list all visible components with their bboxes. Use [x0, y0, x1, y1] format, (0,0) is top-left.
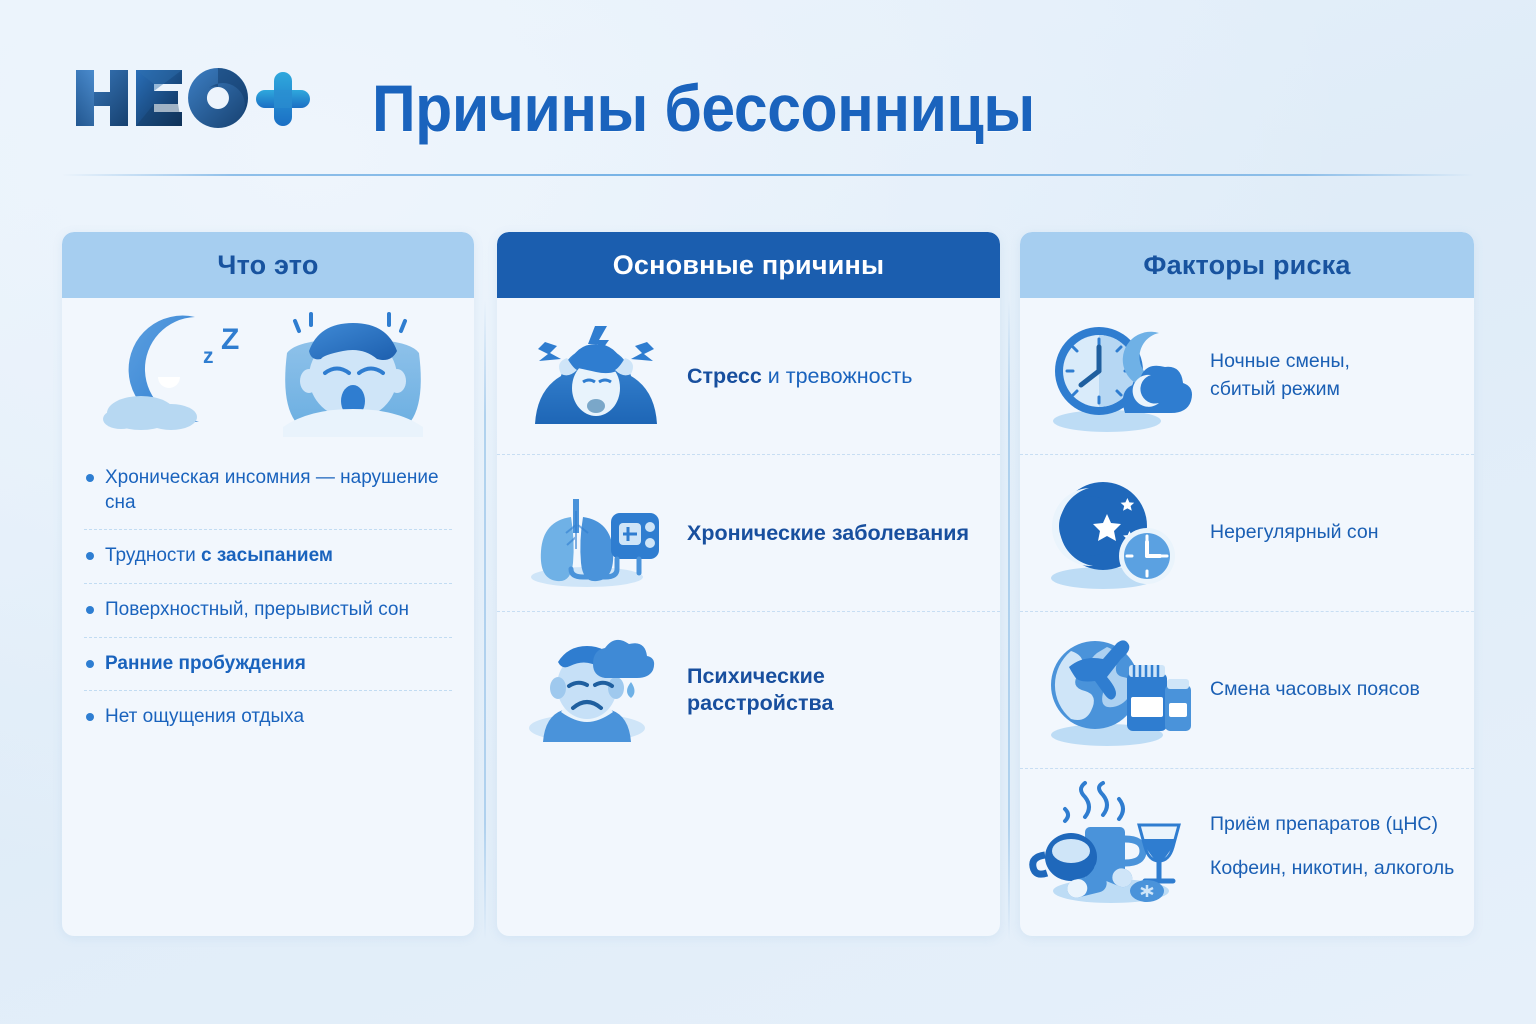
risk-row-night-shifts[interactable]: Ночные смены, сбитый режим — [1020, 298, 1474, 455]
svg-text:z: z — [203, 345, 214, 368]
list-item-label: Трудности с засыпанием — [105, 544, 333, 569]
sleeping-moon-icon: Z z — [103, 305, 263, 437]
cause-label: Психические расстройства — [687, 663, 976, 717]
lungs-blood-pressure-icon — [521, 477, 671, 589]
svg-text:Z: Z — [221, 323, 239, 356]
coffee-wine-pills-icon — [1036, 785, 1196, 909]
yawning-person-icon — [273, 305, 433, 437]
clock-night-moon-icon — [1036, 314, 1196, 438]
bullet-dot — [86, 713, 94, 721]
header-divider — [62, 174, 1474, 176]
neo-plus-logo — [70, 62, 310, 134]
risk-row-substances[interactable]: Приём препаратов (цНС) Кофеин, никотин, … — [1020, 769, 1474, 925]
card-main-causes: Основные причины — [497, 232, 1000, 936]
list-item[interactable]: Трудности с засыпанием — [84, 530, 452, 584]
page-header: Причины бессонницы — [0, 0, 1536, 176]
list-item[interactable]: Ранние пробуждения — [84, 638, 452, 692]
what-is-it-list: Хроническая инсомния — нарушение сна Тру… — [62, 444, 474, 744]
cause-row-chronic[interactable]: Хронические заболевания — [497, 455, 1000, 612]
risk-row-irregular-sleep[interactable]: Нерегулярный сон — [1020, 455, 1474, 612]
list-item[interactable]: Нет ощущения отдыха — [84, 691, 452, 744]
list-item-label: Нет ощущения отдыха — [105, 705, 304, 730]
sleep-illustration: Z z — [62, 298, 474, 444]
column-divider-1 — [484, 300, 486, 940]
cause-label: Хронические заболевания — [687, 520, 969, 547]
card-body-what-is-it: Z z — [62, 298, 474, 744]
stress-headache-icon — [521, 320, 671, 432]
bullet-dot — [86, 660, 94, 668]
infographic-page: Причины бессонницы Что это — [0, 0, 1536, 1024]
card-body-risk-factors: Ночные смены, сбитый режим — [1020, 298, 1474, 925]
list-item-label: Ранние пробуждения — [105, 652, 306, 677]
column-divider-2 — [1008, 300, 1010, 940]
bullet-dot — [86, 474, 94, 482]
risk-label: Нерегулярный сон — [1210, 519, 1379, 547]
list-item-label: Поверхностный, прерывистый сон — [105, 598, 409, 623]
list-item[interactable]: Поверхностный, прерывистый сон — [84, 584, 452, 638]
risk-row-timezones[interactable]: Смена часовых поясов — [1020, 612, 1474, 769]
moon-stars-clock-icon — [1036, 471, 1196, 595]
list-item-label: Хроническая инсомния — нарушение сна — [105, 466, 450, 515]
list-item[interactable]: Хроническая инсомния — нарушение сна — [84, 452, 452, 530]
page-title: Причины бессонницы — [372, 62, 1071, 154]
card-header-what-is-it: Что это — [62, 232, 474, 298]
bullet-dot — [86, 606, 94, 614]
bullet-dot — [86, 552, 94, 560]
risk-label: Приём препаратов (цНС) Кофеин, никотин, … — [1210, 811, 1454, 882]
cause-label: Стресс и тревожность — [687, 363, 912, 390]
cause-row-mental[interactable]: Психические расстройства — [497, 612, 1000, 768]
card-header-main-causes: Основные причины — [497, 232, 1000, 298]
risk-label: Ночные смены, сбитый режим — [1210, 348, 1350, 403]
card-risk-factors: Факторы риска — [1020, 232, 1474, 936]
sad-face-raincloud-icon — [521, 634, 671, 746]
card-body-main-causes: Стресс и тревожность — [497, 298, 1000, 768]
cause-row-stress[interactable]: Стресс и тревожность — [497, 298, 1000, 455]
globe-airplane-pills-icon — [1036, 628, 1196, 752]
card-header-risk-factors: Факторы риска — [1020, 232, 1474, 298]
risk-label: Смена часовых поясов — [1210, 676, 1420, 704]
card-what-is-it: Что это Z z — [62, 232, 474, 936]
